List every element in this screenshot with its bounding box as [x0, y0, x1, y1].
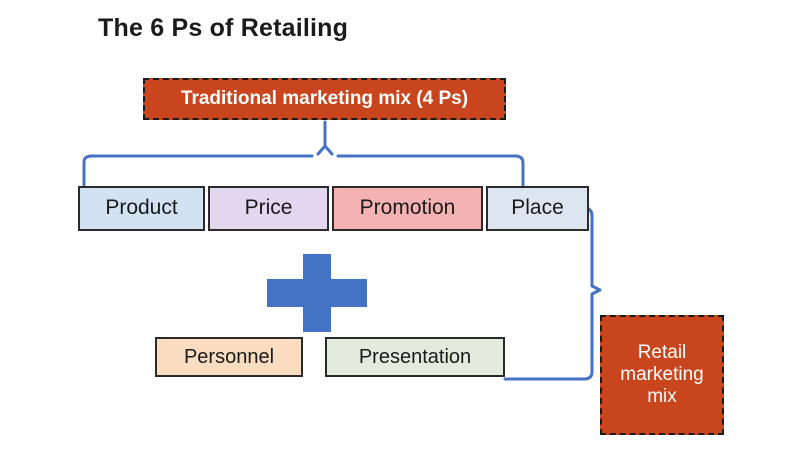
retail-marketing-mix-box[interactable]: Retail marketing mix: [600, 315, 724, 435]
retail-marketing-mix-label-line3: mix: [647, 386, 677, 408]
product-label: Product: [105, 196, 177, 220]
price-box[interactable]: Price: [208, 186, 329, 231]
traditional-marketing-mix-box[interactable]: Traditional marketing mix (4 Ps): [143, 78, 506, 120]
promotion-label: Promotion: [360, 196, 456, 220]
product-box[interactable]: Product: [78, 186, 205, 231]
price-label: Price: [245, 196, 293, 220]
place-label: Place: [511, 196, 564, 220]
personnel-box[interactable]: Personnel: [155, 337, 303, 377]
slide-canvas: The 6 Ps of Retailing Traditional market…: [0, 0, 800, 450]
retail-marketing-mix-label-line1: Retail: [638, 342, 687, 364]
retail-marketing-mix-label-line2: marketing: [620, 364, 703, 386]
traditional-marketing-mix-label: Traditional marketing mix (4 Ps): [181, 88, 468, 110]
page-title: The 6 Ps of Retailing: [98, 14, 348, 43]
plus-icon: [267, 254, 367, 332]
presentation-label: Presentation: [359, 346, 471, 369]
promotion-box[interactable]: Promotion: [332, 186, 483, 231]
place-box[interactable]: Place: [486, 186, 589, 231]
personnel-label: Personnel: [184, 346, 274, 369]
presentation-box[interactable]: Presentation: [325, 337, 505, 377]
